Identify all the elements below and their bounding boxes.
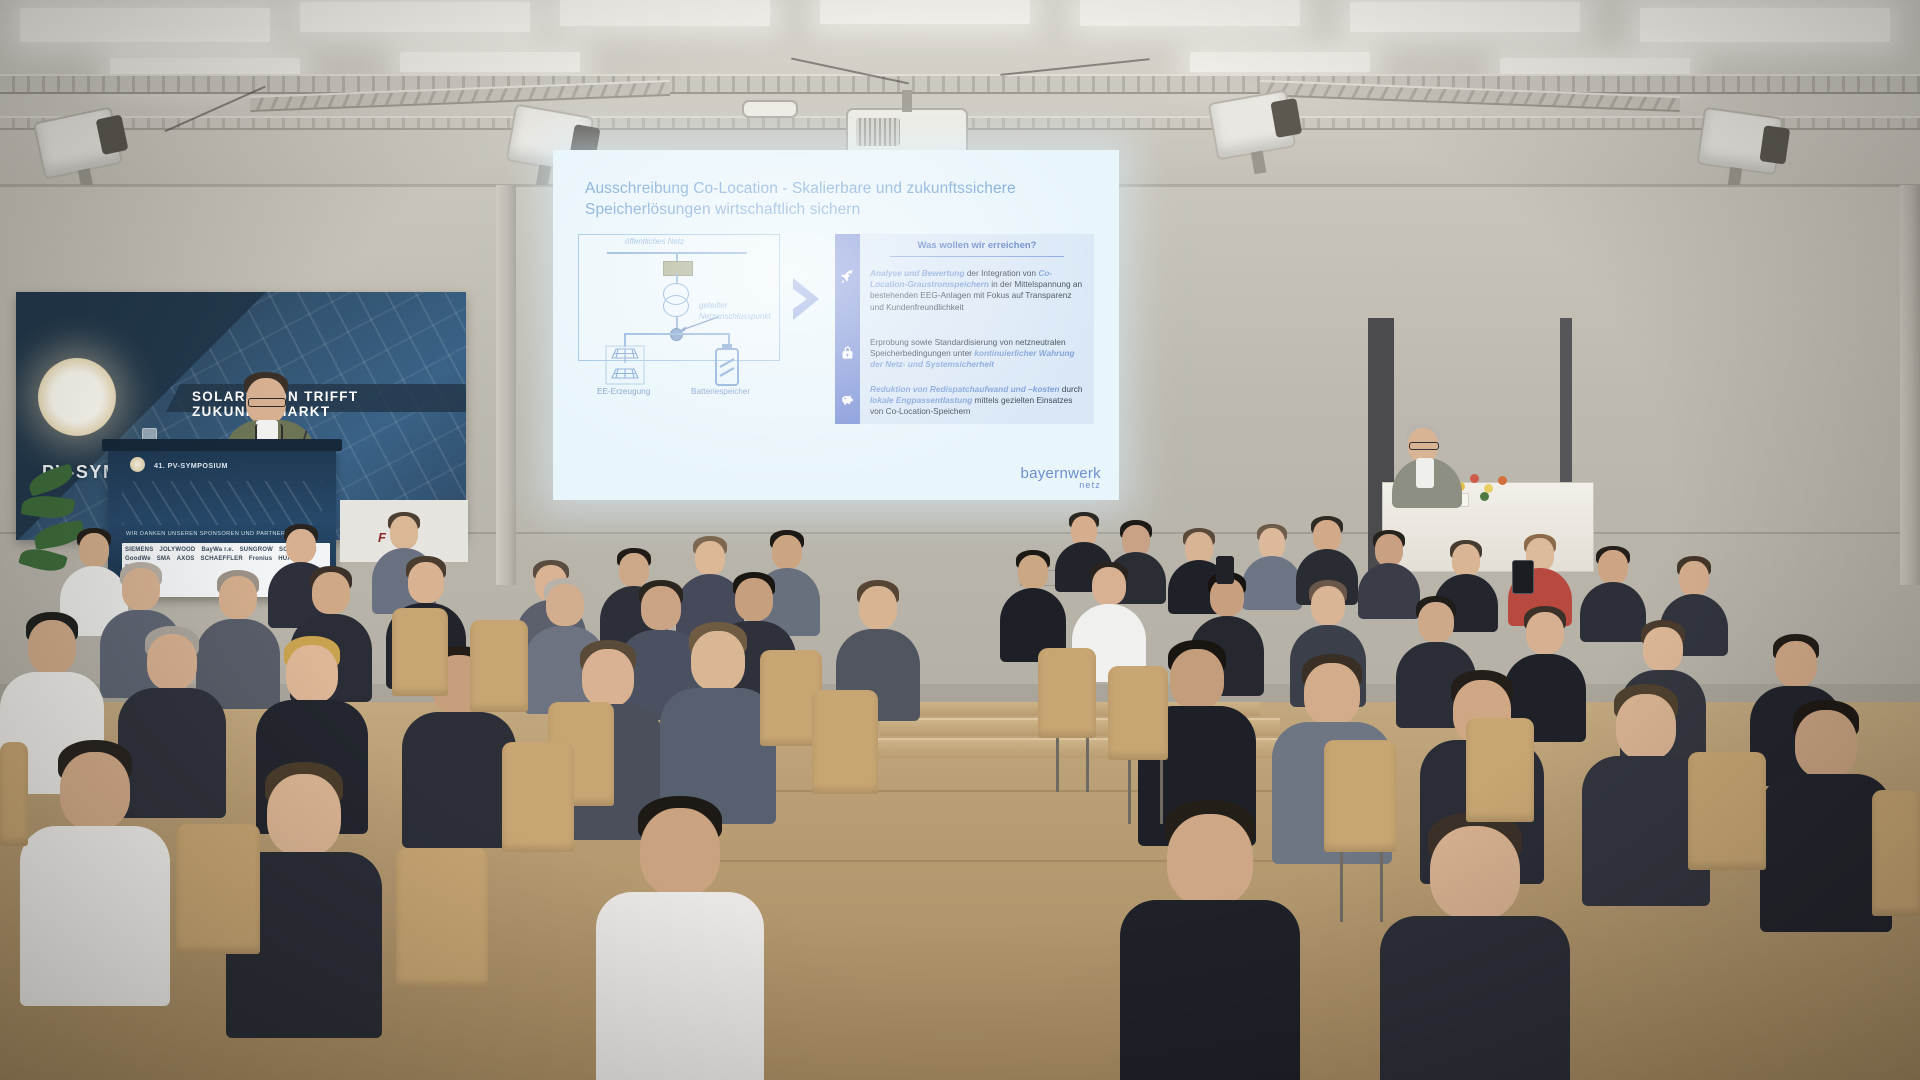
audience-chair [470, 620, 528, 712]
battery-icon [713, 343, 741, 387]
transformer-icon [663, 283, 687, 317]
network-diagram: öffentliches Netz geteilter Netzanschlus… [578, 234, 780, 361]
audience-chair [812, 690, 878, 794]
smartphone [1216, 556, 1234, 584]
audience-member [660, 622, 776, 822]
slide-title-line-1: Ausschreibung Co-Location - Skalierbare … [585, 178, 1085, 199]
sun-icon [38, 358, 116, 436]
goals-panel: Was wollen wir erreichen? Analyse und Be… [860, 234, 1094, 424]
ceiling-light-panel [400, 52, 580, 72]
goal-item: Erprobung sowie Standardisierung von net… [870, 337, 1086, 371]
diagram-top-label: öffentliches Netz [625, 237, 684, 246]
sponsor-logo: JOLYWOOD [159, 547, 195, 553]
node-label-line-2: Netzanschlusspunkt [699, 312, 771, 321]
audience-chair [1108, 666, 1168, 760]
lectern-sun-icon [130, 457, 145, 472]
diagram-bus-h [624, 333, 729, 335]
projector-icon [742, 100, 798, 118]
wall-column [1900, 185, 1920, 585]
spotlight-icon [1696, 107, 1783, 176]
audience-member [596, 796, 764, 1080]
audience-chair [1038, 648, 1096, 738]
projection-screen: Ausschreibung Co-Location - Skalierbare … [553, 150, 1119, 500]
diagram-right-icon-label: Batteriespeicher [691, 387, 750, 396]
solar-panel-icon [605, 345, 645, 385]
chevron-right-icon [789, 276, 823, 322]
ceiling-light-panel [560, 0, 770, 26]
goal-item: Analyse und Bewertung der Integration vo… [870, 268, 1086, 313]
sponsor-logo: SCHAEFFLER [201, 556, 243, 562]
panelist [1392, 424, 1464, 504]
goals-heading: Was wollen wir erreichen? [860, 240, 1094, 251]
lectern-sponsor-intro: WIR DANKEN UNSEREN SPONSOREN UND PARTNER… [126, 531, 290, 537]
audience-member [1120, 800, 1300, 1080]
audience-chair [1872, 790, 1920, 916]
diagram-left-icon-label: EE-Erzeugung [597, 387, 650, 396]
lectern-photo-strip [122, 481, 322, 525]
audience-chair [502, 742, 574, 852]
savings-icon [839, 392, 856, 409]
ceiling-light-panel [300, 2, 530, 32]
audience-chair [0, 742, 28, 846]
smartphone [1512, 560, 1534, 594]
grid-operator-chip [663, 261, 693, 276]
slide-title-line-2: Speicherlösungen wirtschaftlich sichern [585, 199, 1085, 220]
audience-chair [396, 848, 488, 988]
sponsor-logo: BayWa r.e. [201, 547, 233, 553]
lectern-top [102, 439, 342, 451]
conference-photo-scene: Ausschreibung Co-Location - Skalierbare … [0, 0, 1920, 1080]
audience-chair [176, 824, 260, 954]
goals-heading-rule [890, 256, 1064, 257]
audience-chair [1324, 740, 1396, 852]
speaker-glasses [248, 398, 286, 407]
audience-member [1000, 550, 1066, 660]
ceiling-light-panel [1350, 2, 1580, 32]
audience-member [20, 740, 170, 1000]
audience-chair [392, 608, 448, 696]
sponsor-logo: SIEMENS [125, 547, 153, 553]
ceiling-light-panel [1640, 8, 1890, 42]
slide-title: Ausschreibung Co-Location - Skalierbare … [585, 178, 1085, 220]
rocket-icon [839, 268, 856, 285]
audience-chair [1466, 718, 1534, 822]
goal-item: Reduktion von Redispatchaufwand und –kos… [870, 384, 1086, 418]
node-label-line-1: geteilter [699, 301, 727, 310]
ceiling-light-panel [1080, 0, 1300, 26]
lock-icon [839, 344, 856, 361]
ceiling-truss [0, 74, 1920, 94]
wall-column [496, 185, 516, 585]
ceiling-light-panel [820, 0, 1030, 24]
bayernwerk-logo: bayernwerk netz [1020, 465, 1101, 490]
ceiling-light-panel [1190, 52, 1370, 72]
audience-chair [1688, 752, 1766, 870]
ceiling-light-panel [20, 8, 270, 42]
lectern-event-label: 41. PV-SYMPOSIUM [154, 461, 228, 470]
goals-icon-rail [835, 234, 860, 424]
audience-member [1380, 812, 1570, 1080]
